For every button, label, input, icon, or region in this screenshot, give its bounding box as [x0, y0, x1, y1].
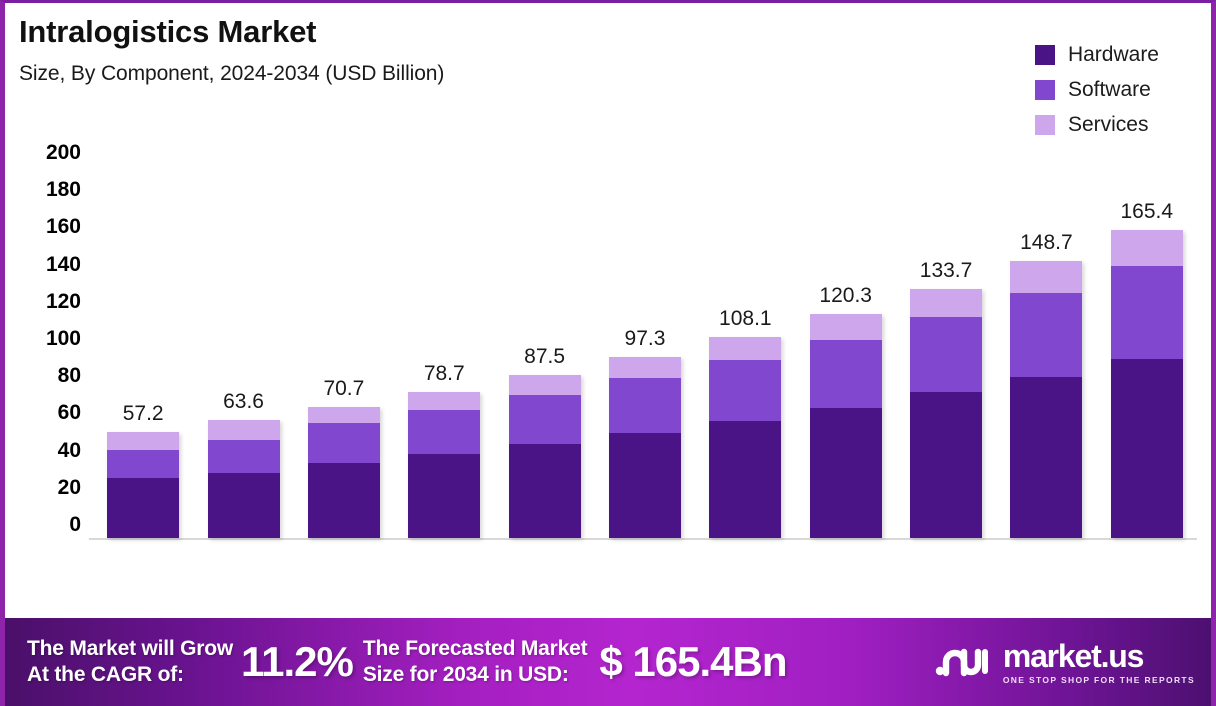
legend-item-software[interactable]: Software [1035, 78, 1159, 102]
bar-series-container: 57.263.670.778.787.597.3108.1120.3133.71… [93, 153, 1197, 538]
bar-group[interactable]: 120.3 [807, 153, 885, 538]
bar-total-label: 87.5 [524, 345, 565, 369]
bar-segment-hardware[interactable] [509, 444, 581, 538]
bar-segment-software[interactable] [1010, 293, 1082, 378]
bar-group[interactable]: 63.6 [205, 153, 283, 538]
legend-swatch-software-icon [1035, 80, 1055, 100]
page-title: Intralogistics Market [19, 15, 444, 49]
size-caption-line2: Size for 2034 in USD: [363, 662, 588, 688]
bar-group[interactable]: 70.7 [305, 153, 383, 538]
y-axis: 200180160140120100806040200 [5, 153, 87, 525]
bar-segment-hardware[interactable] [609, 433, 681, 538]
y-axis-tick: 60 [58, 401, 81, 425]
brand-tagline: ONE STOP SHOP FOR THE REPORTS [1003, 675, 1195, 685]
bar-total-label: 108.1 [719, 307, 772, 331]
bar-stack[interactable] [308, 407, 380, 539]
bar-total-label: 78.7 [424, 362, 465, 386]
legend-item-label: Software [1068, 78, 1151, 102]
bar-stack[interactable] [810, 314, 882, 538]
brand-logo: market.us ONE STOP SHOP FOR THE REPORTS [933, 640, 1195, 685]
bar-stack[interactable] [1010, 261, 1082, 538]
bar-segment-services[interactable] [1010, 261, 1082, 292]
bar-segment-hardware[interactable] [308, 463, 380, 538]
bar-segment-software[interactable] [709, 360, 781, 421]
y-axis-tick: 160 [46, 215, 81, 239]
bar-segment-software[interactable] [509, 395, 581, 445]
bar-segment-hardware[interactable] [208, 473, 280, 538]
bar-segment-software[interactable] [107, 450, 179, 478]
bar-segment-services[interactable] [408, 392, 480, 410]
bar-segment-hardware[interactable] [1111, 359, 1183, 538]
bar-group[interactable]: 97.3 [606, 153, 684, 538]
bar-segment-software[interactable] [408, 410, 480, 454]
legend-item-label: Services [1068, 113, 1149, 137]
bar-total-label: 97.3 [625, 327, 666, 351]
bar-segment-software[interactable] [208, 440, 280, 473]
cagr-caption: The Market will Grow At the CAGR of: [27, 636, 233, 687]
y-axis-tick: 180 [46, 178, 81, 202]
bar-segment-services[interactable] [308, 407, 380, 423]
legend-item-label: Hardware [1068, 43, 1159, 67]
bar-stack[interactable] [709, 337, 781, 538]
bar-segment-hardware[interactable] [1010, 377, 1082, 538]
size-caption-line1: The Forecasted Market [363, 636, 588, 662]
forecast-size-value: $ 165.4Bn [599, 638, 786, 686]
brand-name: market.us [1003, 640, 1195, 672]
bar-group[interactable]: 165.4 [1108, 153, 1186, 538]
bar-group[interactable]: 57.2 [104, 153, 182, 538]
bar-segment-hardware[interactable] [810, 408, 882, 538]
bar-total-label: 148.7 [1020, 231, 1073, 255]
infographic-page: Intralogistics Market Size, By Component… [0, 0, 1216, 706]
page-subtitle: Size, By Component, 2024-2034 (USD Billi… [19, 62, 444, 86]
bar-total-label: 63.6 [223, 390, 264, 414]
y-axis-tick: 200 [46, 141, 81, 165]
cagr-caption-line1: The Market will Grow [27, 636, 233, 662]
bar-segment-services[interactable] [709, 337, 781, 360]
bar-total-label: 70.7 [323, 377, 364, 401]
bar-group[interactable]: 133.7 [907, 153, 985, 538]
market-us-glyph-icon [933, 640, 995, 685]
bar-segment-services[interactable] [107, 432, 179, 450]
bar-stack[interactable] [609, 357, 681, 538]
y-axis-tick: 20 [58, 476, 81, 500]
bar-group[interactable]: 78.7 [405, 153, 483, 538]
y-axis-tick: 100 [46, 327, 81, 351]
bar-segment-software[interactable] [308, 423, 380, 463]
y-axis-tick: 80 [58, 364, 81, 388]
bar-group[interactable]: 87.5 [506, 153, 584, 538]
bar-segment-services[interactable] [509, 375, 581, 394]
brand-text: market.us ONE STOP SHOP FOR THE REPORTS [1003, 640, 1195, 685]
bar-stack[interactable] [910, 289, 982, 538]
forecast-size-caption: The Forecasted Market Size for 2034 in U… [363, 636, 588, 687]
y-axis-tick: 40 [58, 439, 81, 463]
bar-segment-software[interactable] [910, 317, 982, 393]
bar-segment-software[interactable] [609, 378, 681, 433]
bar-segment-hardware[interactable] [910, 392, 982, 538]
bar-segment-hardware[interactable] [709, 421, 781, 538]
legend-swatch-hardware-icon [1035, 45, 1055, 65]
footer-banner: The Market will Grow At the CAGR of: 11.… [5, 618, 1211, 706]
bar-total-label: 120.3 [819, 284, 872, 308]
legend-item-hardware[interactable]: Hardware [1035, 43, 1159, 67]
y-axis-tick: 120 [46, 290, 81, 314]
chart-legend: HardwareSoftwareServices [1035, 43, 1159, 137]
legend-item-services[interactable]: Services [1035, 113, 1159, 137]
bar-group[interactable]: 108.1 [706, 153, 784, 538]
axis-baseline [89, 538, 1197, 540]
y-axis-tick: 140 [46, 253, 81, 277]
bar-total-label: 57.2 [123, 402, 164, 426]
legend-swatch-services-icon [1035, 115, 1055, 135]
bar-total-label: 165.4 [1120, 200, 1173, 224]
header: Intralogistics Market Size, By Component… [19, 15, 444, 86]
bar-segment-services[interactable] [208, 420, 280, 440]
plot-area: 200180160140120100806040200 57.263.670.7… [5, 153, 1211, 593]
bar-segment-software[interactable] [810, 340, 882, 408]
cagr-caption-line2: At the CAGR of: [27, 662, 233, 688]
bar-segment-software[interactable] [1111, 266, 1183, 359]
bar-segment-services[interactable] [1111, 230, 1183, 265]
bar-segment-services[interactable] [609, 357, 681, 378]
bar-stack[interactable] [509, 375, 581, 538]
bar-stack[interactable] [107, 432, 179, 538]
bar-group[interactable]: 148.7 [1007, 153, 1085, 538]
bar-segment-hardware[interactable] [408, 454, 480, 538]
bar-segment-services[interactable] [910, 289, 982, 316]
bar-segment-hardware[interactable] [107, 478, 179, 538]
bar-stack[interactable] [408, 392, 480, 538]
bar-segment-services[interactable] [810, 314, 882, 339]
bar-stack[interactable] [1111, 230, 1183, 538]
cagr-value: 11.2% [241, 638, 353, 686]
bar-total-label: 133.7 [920, 259, 973, 283]
bar-stack[interactable] [208, 420, 280, 538]
y-axis-tick: 0 [69, 513, 81, 537]
